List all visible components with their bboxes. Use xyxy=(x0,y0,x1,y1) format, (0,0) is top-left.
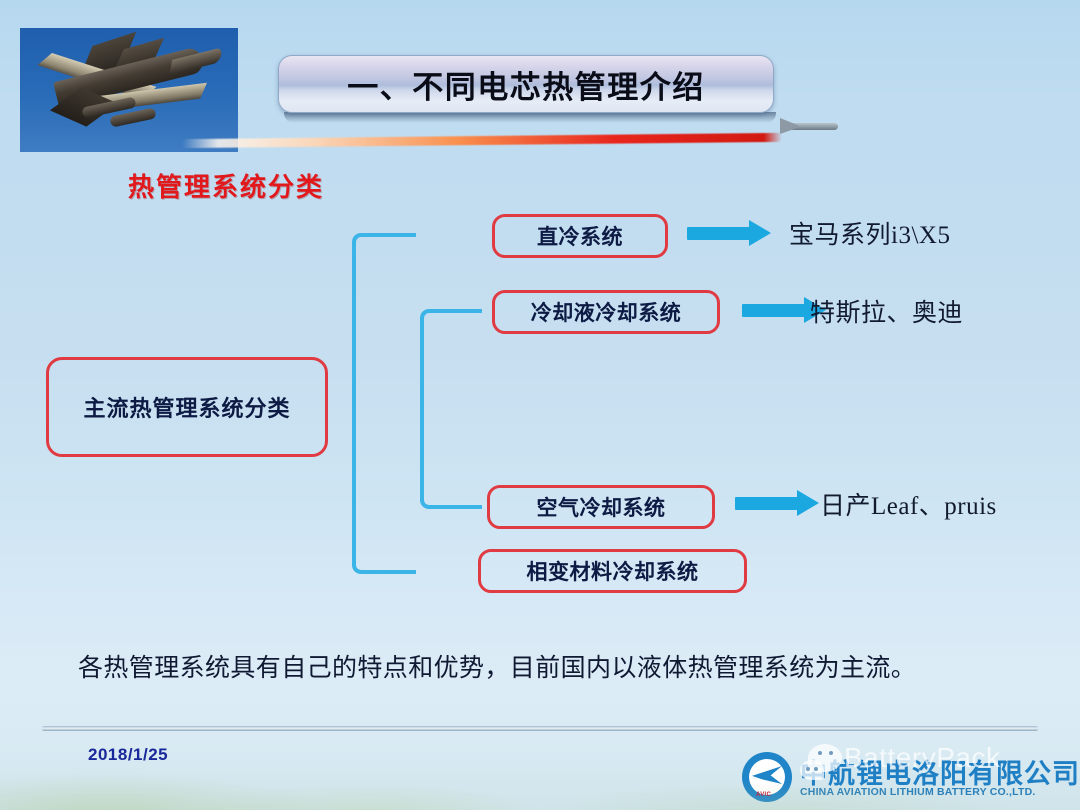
section-heading: 热管理系统分类 xyxy=(128,167,324,204)
diagram-node-label: 相变材料冷却系统 xyxy=(527,556,699,586)
arrow-right-icon xyxy=(687,220,771,246)
example-label-direct-cooling: 宝马系列i3\X5 xyxy=(789,215,950,251)
bracket-inner xyxy=(420,309,482,509)
diagram-node-label: 直冷系统 xyxy=(537,221,623,251)
diagram-node-label: 空气冷却系统 xyxy=(537,492,666,522)
missile-icon xyxy=(778,118,840,134)
diagram-node-label: 冷却液冷却系统 xyxy=(531,297,682,327)
diagram-node-air-cooling: 空气冷却系统 xyxy=(487,485,715,529)
slide-canvas: 一、不同电芯热管理介绍 热管理系统分类 主流热管理系统分类 直冷系统 冷却液冷却… xyxy=(0,0,1080,810)
company-name-en: CHINA AVIATION LITHIUM BATTERY CO.,LTD. xyxy=(800,786,1035,798)
diagram-node-pcm-cooling: 相变材料冷却系统 xyxy=(478,549,747,593)
avic-logo-tag: AVIC xyxy=(756,792,771,798)
arrow-right-icon xyxy=(735,490,819,516)
diagram-node-liquid-cooling: 冷却液冷却系统 xyxy=(492,290,720,334)
summary-text: 各热管理系统具有自己的特点和优势，目前国内以液体热管理系统为主流。 xyxy=(78,648,916,684)
avic-logo-icon: AVIC xyxy=(742,752,792,802)
example-label-liquid-cooling: 特斯拉、奥迪 xyxy=(810,293,963,329)
missile-fin xyxy=(780,118,798,134)
missile-trail-streak xyxy=(182,133,782,148)
diagram-node-root-label: 主流热管理系统分类 xyxy=(83,391,290,423)
diagram-node-direct-cooling: 直冷系统 xyxy=(492,214,668,258)
diagram-node-root: 主流热管理系统分类 xyxy=(46,357,328,457)
slide-date: 2018/1/25 xyxy=(88,745,168,765)
fighter-jet-photo xyxy=(20,28,238,152)
bracket-outer xyxy=(352,233,416,574)
arrow-shaft xyxy=(687,227,751,240)
page-title: 一、不同电芯热管理介绍 xyxy=(347,62,705,107)
avic-logo-glyph xyxy=(749,759,785,795)
title-banner: 一、不同电芯热管理介绍 xyxy=(278,55,774,113)
footer-divider xyxy=(42,726,1038,731)
arrow-head xyxy=(797,490,819,516)
arrow-shaft xyxy=(742,304,806,317)
arrow-shaft xyxy=(735,497,799,510)
company-logo: AVIC 中航锂电洛阳有限公司 CHINA AVIATION LITHIUM B… xyxy=(742,750,1062,806)
example-label-air-cooling: 日产Leaf、pruis xyxy=(820,486,997,522)
title-banner-shadow xyxy=(284,112,776,123)
arrow-head xyxy=(749,220,771,246)
